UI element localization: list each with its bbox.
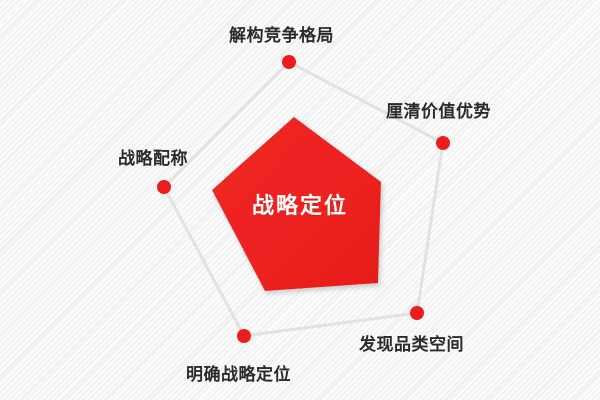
- node-label-right-lower: 发现品类空间: [359, 336, 464, 353]
- node-label-right-upper: 厘清价值优势: [386, 103, 491, 120]
- node-dot-top[interactable]: [282, 55, 296, 69]
- node-dot-left[interactable]: [157, 180, 171, 194]
- node-dot-right-lower[interactable]: [410, 306, 424, 320]
- node-dot-bottom[interactable]: [237, 329, 251, 343]
- node-label-top: 解构竞争格局: [229, 27, 334, 44]
- diagram-canvas: 战略定位 解构竞争格局 厘清价值优势 发现品类空间 明确战略定位 战略配称: [0, 0, 600, 400]
- node-label-left: 战略配称: [118, 150, 188, 167]
- node-dot-right-upper[interactable]: [436, 136, 450, 150]
- node-label-bottom: 明确战略定位: [186, 366, 291, 383]
- center-node-label: 战略定位: [252, 195, 348, 217]
